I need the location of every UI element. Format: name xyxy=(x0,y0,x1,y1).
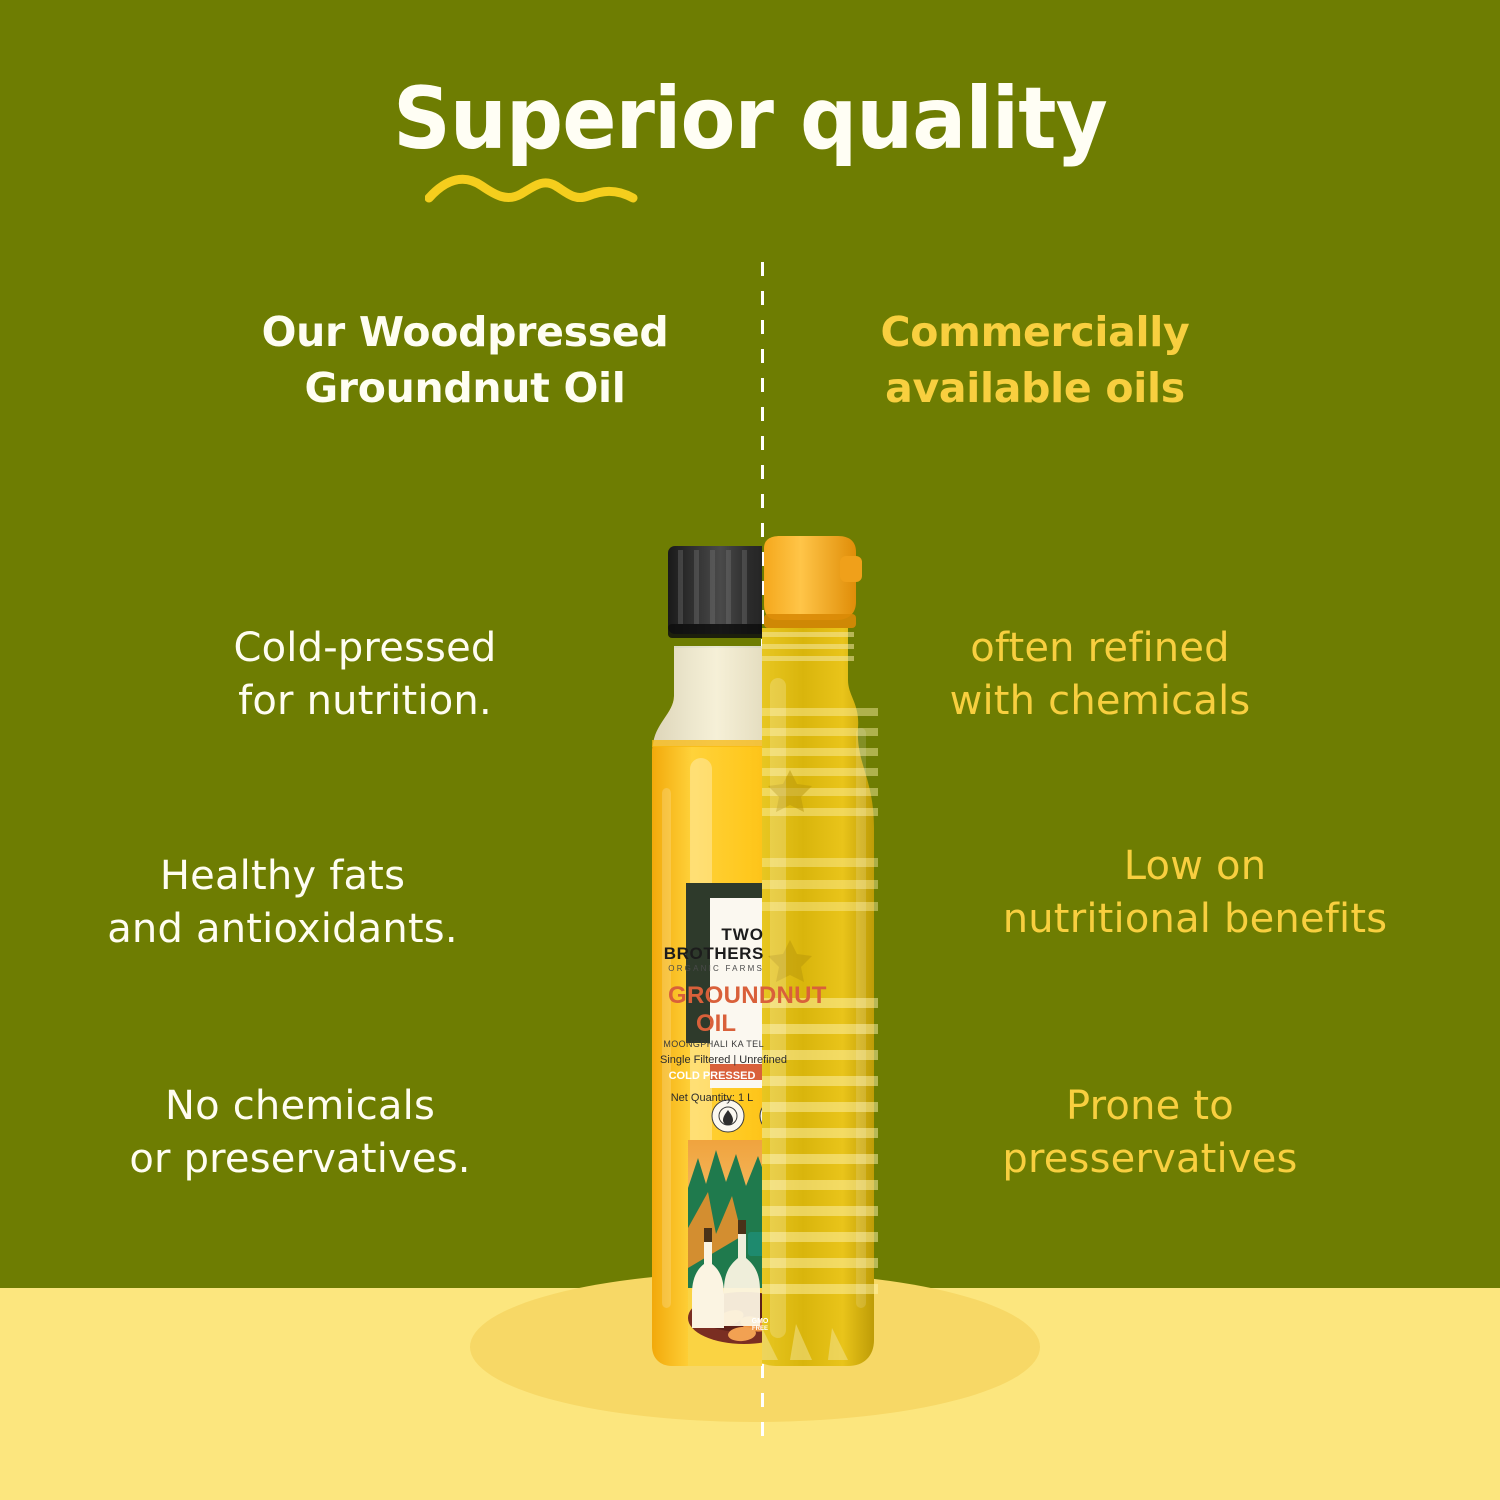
split-oil-bottle-image xyxy=(612,528,897,1383)
right-feature-1-line1: often refined xyxy=(890,622,1310,675)
right-feature-3-line1: Prone to xyxy=(940,1080,1360,1133)
left-feature-1: Cold-pressed for nutrition. xyxy=(140,622,590,728)
page-title-wrap: Superior quality xyxy=(0,76,1500,162)
right-feature-1-line2: with chemicals xyxy=(890,675,1310,728)
infographic-canvas: Superior quality Our Woodpressed Groundn… xyxy=(0,0,1500,1500)
right-column-heading-line2: available oils xyxy=(795,361,1275,417)
right-feature-3-line2: presservatives xyxy=(940,1133,1360,1186)
right-feature-3: Prone to presservatives xyxy=(940,1080,1360,1186)
left-column-heading: Our Woodpressed Groundnut Oil xyxy=(200,305,730,417)
left-feature-3-line1: No chemicals xyxy=(75,1080,525,1133)
page-title: Superior quality xyxy=(53,76,1448,162)
left-feature-3: No chemicals or preservatives. xyxy=(75,1080,525,1186)
left-feature-2-line1: Healthy fats xyxy=(45,850,520,903)
left-column-heading-line2: Groundnut Oil xyxy=(200,361,730,417)
left-feature-2-line2: and antioxidants. xyxy=(45,903,520,956)
left-feature-1-line1: Cold-pressed xyxy=(140,622,590,675)
left-column-heading-line1: Our Woodpressed xyxy=(200,305,730,361)
left-feature-1-line2: for nutrition. xyxy=(140,675,590,728)
right-feature-2: Low on nutritional benefits xyxy=(930,840,1460,946)
right-column-heading: Commercially available oils xyxy=(795,305,1275,417)
right-column-heading-line1: Commercially xyxy=(795,305,1275,361)
right-feature-2-line2: nutritional benefits xyxy=(930,893,1460,946)
left-feature-3-line2: or preservatives. xyxy=(75,1133,525,1186)
squiggle-underline-icon xyxy=(425,168,640,210)
left-feature-2: Healthy fats and antioxidants. xyxy=(45,850,520,956)
right-feature-1: often refined with chemicals xyxy=(890,622,1310,728)
right-feature-2-line1: Low on xyxy=(930,840,1460,893)
